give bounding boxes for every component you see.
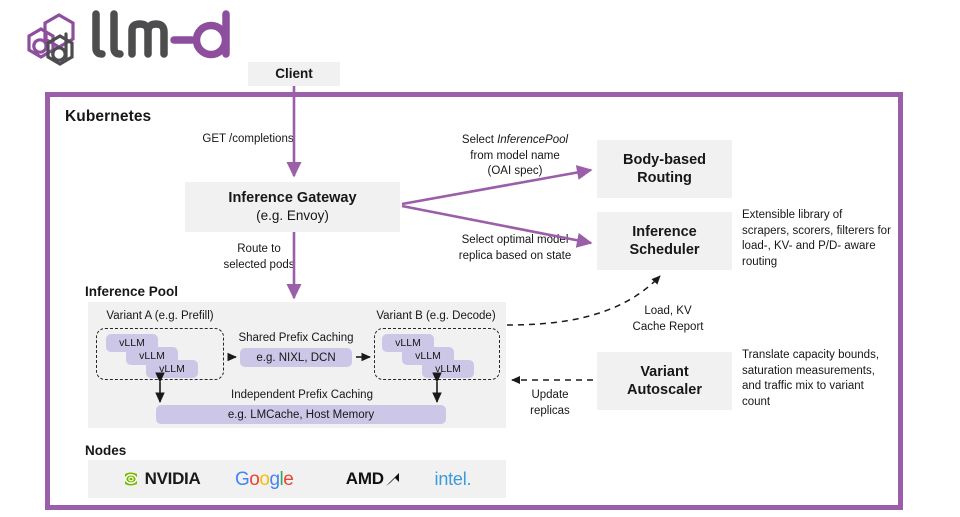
svg-text:Google: Google [235, 469, 293, 490]
annotation-load-kv-cache-report: Load, KVCache Report [620, 304, 716, 335]
annotation-select-inferencepool: Select InferencePoolfrom model name(OAI … [432, 133, 598, 180]
intel-logo: intel . [435, 469, 472, 490]
independent-prefix-caching-value[interactable]: e.g. LMCache, Host Memory [156, 405, 446, 424]
nodes-label: Nodes [85, 443, 126, 458]
amd-wordmark: AMD [346, 469, 384, 489]
kubernetes-label: Kubernetes [65, 108, 151, 126]
select-pool-emphasis: InferencePool [497, 134, 568, 146]
inference-scheduler-box[interactable]: Inference Scheduler [597, 212, 732, 270]
hexagon-logo-icon [26, 12, 88, 70]
intel-period: . [467, 469, 472, 490]
vendor-logo-row: NVIDIA Google AMD intel . [88, 460, 506, 498]
client-box[interactable]: Client [248, 62, 340, 86]
annotation-get-completions: GET /completions [178, 132, 318, 148]
select-pool-post: from model name(OAI spec) [470, 150, 559, 178]
select-pool-pre: Select [462, 134, 497, 146]
google-logo-icon: Google [235, 468, 311, 490]
autoscaler-line2: Autoscaler [627, 381, 702, 399]
independent-prefix-caching-title: Independent Prefix Caching [200, 389, 404, 401]
nvidia-logo: NVIDIA [123, 469, 201, 489]
nvidia-wordmark: NVIDIA [145, 469, 201, 489]
client-label: Client [275, 66, 313, 83]
nvidia-logo-icon [123, 471, 145, 487]
inference-pool-label: Inference Pool [85, 284, 178, 299]
gateway-title: Inference Gateway [228, 189, 356, 207]
scheduler-line2: Scheduler [629, 241, 699, 259]
vllm-pod[interactable]: vLLM [146, 360, 198, 378]
google-logo: Google [235, 468, 311, 490]
annotation-select-optimal-replica: Select optimal modelreplica based on sta… [432, 233, 598, 264]
amd-logo: AMD [346, 469, 400, 489]
llm-d-logo [26, 8, 236, 74]
llm-d-wordmark [90, 8, 240, 72]
shared-prefix-caching-value[interactable]: e.g. NIXL, DCN [240, 348, 352, 367]
annotation-route-to-pods: Route toselected pods [200, 242, 318, 273]
annotation-update-replicas: Updatereplicas [514, 388, 586, 419]
inference-gateway-box[interactable]: Inference Gateway (e.g. Envoy) [185, 182, 400, 232]
amd-arrow-icon [385, 472, 400, 487]
shared-prefix-caching-title: Shared Prefix Caching [228, 332, 364, 344]
annotation-translate-capacity: Translate capacity bounds, saturation me… [742, 348, 892, 410]
annotation-extensible-library: Extensible library of scrapers, scorers,… [742, 208, 892, 270]
variant-autoscaler-box[interactable]: Variant Autoscaler [597, 352, 732, 410]
variant-b-caption: Variant B (e.g. Decode) [366, 310, 506, 324]
diagram-canvas: Kubernetes Inference Pool Variant A (e.g… [0, 0, 960, 517]
variant-a-caption: Variant A (e.g. Prefill) [96, 310, 224, 324]
bbr-line1: Body-based [623, 151, 706, 169]
bbr-line2: Routing [637, 169, 692, 187]
gateway-subtitle: (e.g. Envoy) [256, 207, 329, 225]
body-based-routing-box[interactable]: Body-based Routing [597, 140, 732, 198]
scheduler-line1: Inference [632, 223, 696, 241]
vllm-pod[interactable]: vLLM [422, 360, 474, 378]
intel-wordmark: intel [435, 469, 467, 490]
autoscaler-line1: Variant [640, 363, 688, 381]
